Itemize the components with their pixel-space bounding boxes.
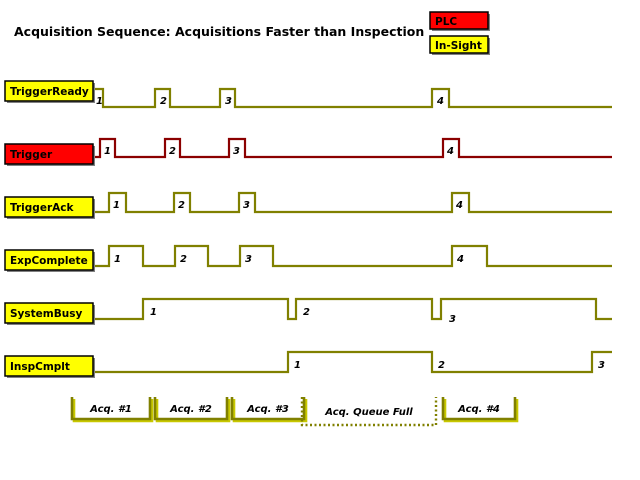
marker-triggerack-3: 3 xyxy=(243,200,250,211)
marker-systembusy-2: 2 xyxy=(303,307,310,318)
legend-item-insight: In-Sight xyxy=(430,36,490,55)
marker-triggerready-1: 1 xyxy=(96,96,103,107)
signal-label-triggerready: TriggerReady xyxy=(10,86,89,98)
marker-triggerack-4: 4 xyxy=(455,200,463,211)
marker-triggerready-3: 3 xyxy=(225,96,232,107)
page-title: Acquisition Sequence: Acquisitions Faste… xyxy=(14,24,424,39)
marker-inspcmplt-2: 2 xyxy=(438,360,445,371)
marker-triggerack-1: 1 xyxy=(113,200,120,211)
bracket-label-3: Acq. Queue Full xyxy=(324,407,413,418)
marker-inspcmplt-3: 3 xyxy=(598,360,605,371)
marker-expcomplete-3: 3 xyxy=(245,254,252,265)
timing-diagram-canvas: Acquisition Sequence: Acquisitions Faste… xyxy=(0,0,640,480)
signal-label-expcomplete: ExpComplete xyxy=(10,255,88,267)
legend-insight-label: In-Sight xyxy=(435,40,482,52)
signal-label-trigger: Trigger xyxy=(10,149,53,161)
bracket-label-4: Acq. #4 xyxy=(457,404,500,415)
marker-triggerready-2: 2 xyxy=(160,96,167,107)
signal-label-triggerack: TriggerAck xyxy=(10,202,74,214)
marker-expcomplete-4: 4 xyxy=(456,254,464,265)
signal-label-systembusy: SystemBusy xyxy=(10,308,82,320)
bracket-label-2: Acq. #3 xyxy=(246,404,289,415)
marker-trigger-1: 1 xyxy=(104,146,111,157)
marker-trigger-2: 2 xyxy=(169,146,176,157)
marker-expcomplete-1: 1 xyxy=(114,254,121,265)
signal-label-inspcmplt: InspCmplt xyxy=(10,361,70,373)
marker-triggerready-4: 4 xyxy=(436,96,444,107)
marker-triggerack-2: 2 xyxy=(178,200,185,211)
marker-systembusy-3: 3 xyxy=(449,314,456,325)
legend-plc-label: PLC xyxy=(435,16,457,28)
bracket-label-1: Acq. #2 xyxy=(169,404,212,415)
bracket-label-0: Acq. #1 xyxy=(89,404,132,415)
legend-item-plc: PLC xyxy=(430,12,490,31)
marker-systembusy-1: 1 xyxy=(150,307,157,318)
marker-expcomplete-2: 2 xyxy=(180,254,187,265)
marker-trigger-3: 3 xyxy=(233,146,240,157)
marker-trigger-4: 4 xyxy=(446,146,454,157)
marker-inspcmplt-1: 1 xyxy=(294,360,301,371)
